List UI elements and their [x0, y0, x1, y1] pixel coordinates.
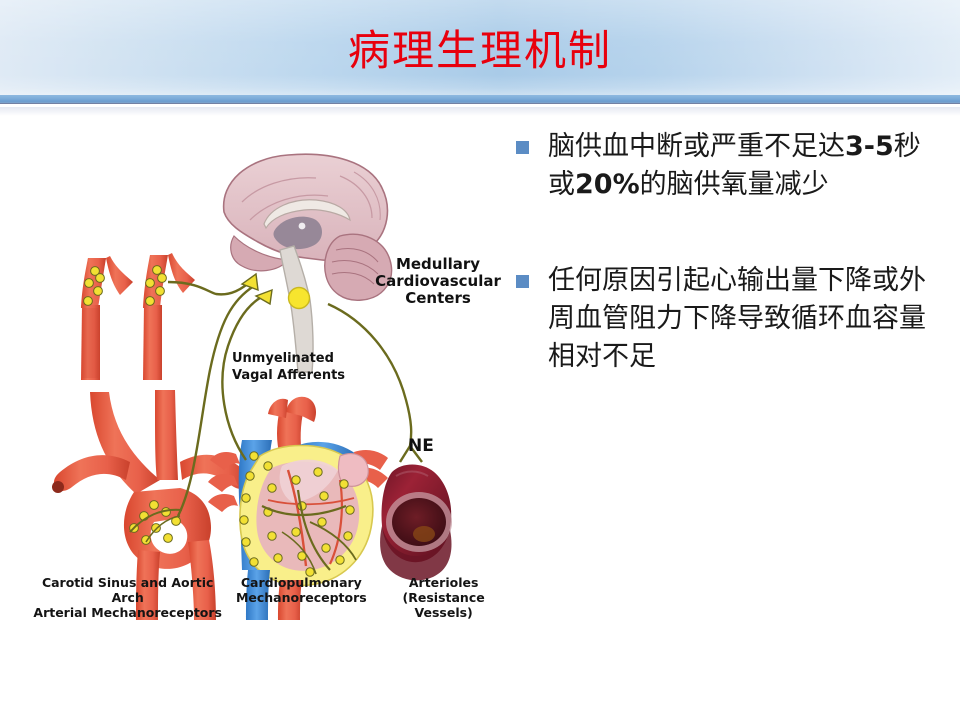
- caption-cardiopulmonary: Cardiopulmonary Mechanoreceptors: [231, 575, 371, 620]
- bullet-1-emphasis-duration: 3-5: [845, 131, 894, 162]
- list-item: 脑供血中断或严重不足达3-5秒或20%的脑供氧量减少: [516, 128, 946, 204]
- header-fade: [0, 107, 960, 116]
- bullet-square-icon: [516, 275, 529, 288]
- caption-carotid-aortic: Carotid Sinus and Aortic Arch Arterial M…: [24, 575, 231, 620]
- bullet-1-emphasis-percent: 20%: [575, 169, 640, 200]
- bullet-1-lead: 脑供血中断或严重不足达: [548, 131, 845, 162]
- medullary-center-marker: [289, 288, 310, 309]
- baroreflex-illustration: [10, 150, 530, 620]
- carotid-left: [81, 256, 133, 380]
- arteriole-vessel: [380, 465, 452, 581]
- bullet-square-icon: [516, 141, 529, 154]
- list-item: 任何原因引起心输出量下降或外周血管阻力下降导致循环血容量相对不足: [516, 262, 946, 376]
- carotid-aortic-group: [52, 253, 252, 620]
- baroreflex-diagram: Medullary Cardiovascular Centers Unmyeli…: [10, 150, 530, 620]
- carotid-right: [143, 253, 195, 380]
- bullet-1-tail: 的脑供氧量减少: [640, 169, 829, 200]
- caption-arterioles: Arterioles (Resistance Vessels): [371, 575, 516, 620]
- label-medullary-cardiovascular-centers: Medullary Cardiovascular Centers: [358, 256, 518, 307]
- label-ne: NE: [408, 438, 434, 455]
- page-title: 病理生理机制: [0, 24, 960, 78]
- bullet-text-1: 脑供血中断或严重不足达3-5秒或20%的脑供氧量减少: [548, 128, 946, 204]
- figure-caption-row: Carotid Sinus and Aortic Arch Arterial M…: [10, 575, 530, 620]
- bullet-list: 脑供血中断或严重不足达3-5秒或20%的脑供氧量减少 任何原因引起心输出量下降或…: [516, 128, 946, 432]
- header-rule: [0, 103, 960, 104]
- label-unmyelinated-vagal-afferents: Unmyelinated Vagal Afferents: [232, 350, 382, 384]
- bullet-text-2: 任何原因引起心输出量下降或外周血管阻力下降导致循环血容量相对不足: [548, 262, 946, 376]
